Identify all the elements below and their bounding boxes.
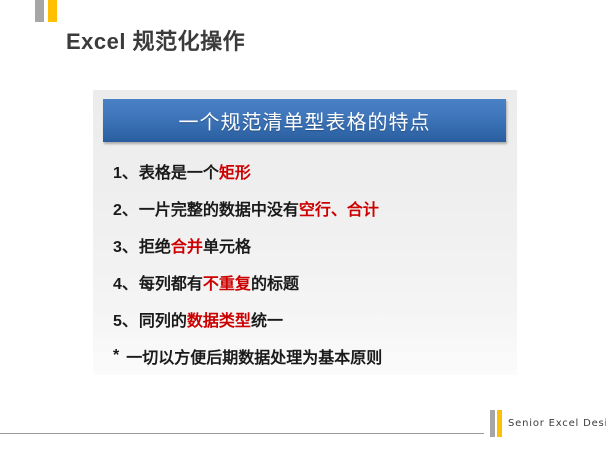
footer-divider	[0, 433, 484, 434]
list-item-marker: 3、	[113, 233, 138, 257]
footer-brand-label: Senior Excel Design	[508, 418, 606, 429]
feature-list-item: 4、每列都有不重复的标题	[113, 263, 513, 300]
list-item-marker: 5、	[113, 307, 138, 331]
list-item-text: 每列都有	[139, 270, 203, 294]
list-item-text: 统一	[251, 307, 283, 331]
slide-canvas: Excel 规范化操作 一个规范清单型表格的特点 1、表格是一个矩形2、一片完整…	[0, 0, 606, 449]
list-item-text: 单元格	[203, 233, 251, 257]
feature-list-item: 3、拒绝合并单元格	[113, 226, 513, 263]
list-item-text: 的标题	[251, 270, 299, 294]
feature-list-item: 2、一片完整的数据中没有空行、合计	[113, 189, 513, 226]
list-item-highlight-text: 矩形	[219, 159, 251, 183]
list-item-text: 表格是一个	[139, 159, 219, 183]
feature-note-row: *一切以方便后期数据处理为基本原则	[113, 337, 513, 374]
section-banner-fill: 一个规范清单型表格的特点	[103, 99, 506, 142]
feature-list-item: 5、同列的数据类型统一	[113, 300, 513, 337]
section-banner: 一个规范清单型表格的特点	[103, 99, 506, 142]
footer-accent-bar-gray	[490, 410, 495, 437]
list-item-text: 同列的	[139, 307, 187, 331]
list-item-highlight-text: 数据类型	[187, 307, 251, 331]
footer-accent-bar-yellow	[497, 410, 502, 437]
section-banner-label: 一个规范清单型表格的特点	[179, 106, 431, 135]
list-item-highlight-text: 空行、合计	[299, 196, 379, 220]
feature-list-item: 1、表格是一个矩形	[113, 152, 513, 189]
list-item-text: 一片完整的数据中没有	[139, 196, 299, 220]
list-item-highlight-text: 合并	[171, 233, 203, 257]
feature-list: 1、表格是一个矩形2、一片完整的数据中没有空行、合计3、拒绝合并单元格4、每列都…	[113, 152, 513, 374]
list-item-marker: 1、	[113, 159, 138, 183]
list-item-marker: 4、	[113, 270, 138, 294]
list-item-text: 拒绝	[139, 233, 171, 257]
title-accent-bar-yellow	[48, 0, 57, 22]
list-item-marker: 2、	[113, 196, 138, 220]
title-accent-bar-gray	[35, 0, 44, 22]
list-item-text: 一切以方便后期数据处理为基本原则	[126, 344, 382, 368]
page-title: Excel 规范化操作	[66, 24, 245, 56]
list-item-highlight-text: 不重复	[203, 270, 251, 294]
list-item-marker: *	[113, 347, 119, 365]
